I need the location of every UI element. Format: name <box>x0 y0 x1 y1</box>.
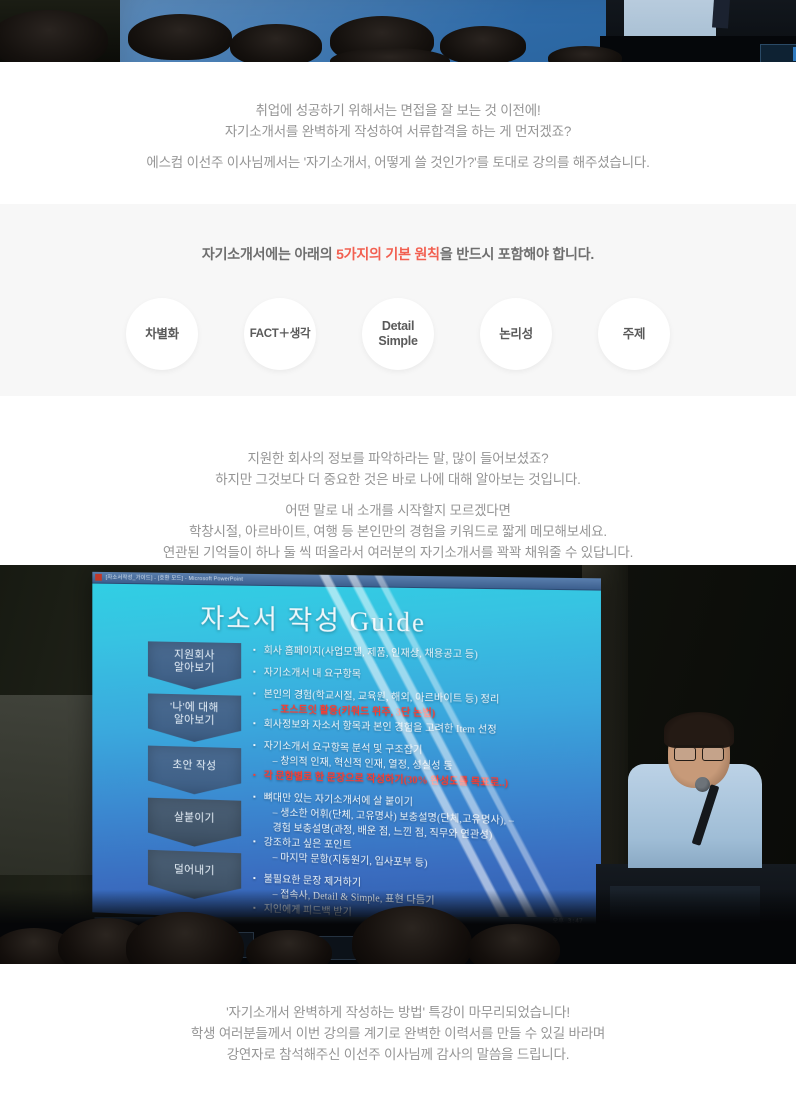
principle-label: FACT＋생각 <box>250 327 311 342</box>
flow-step-1: 지원회사알아보기 <box>148 641 241 690</box>
middle-text-block: 지원한 회사의 정보를 파악하라는 말, 많이 들어보셨죠? 하지만 그것보다 … <box>0 448 796 563</box>
principle-circle-list: 차별화 FACT＋생각 Detail Simple 논리성 주제 <box>0 293 796 375</box>
principle-circle-4[interactable]: 논리성 <box>480 298 552 370</box>
principle-circle-5[interactable]: 주제 <box>598 298 670 370</box>
principle-label-line1: Detail <box>382 319 414 333</box>
principles-section: 자기소개서에는 아래의 5가지의 기본 원칙을 반드시 포함해야 합니다. 차별… <box>0 204 796 396</box>
principle-label: 논리성 <box>499 327 533 342</box>
audience-head <box>440 26 526 62</box>
principle-label-line2: Simple <box>378 334 417 348</box>
intro-text-block: 취업에 성공하기 위해서는 면접을 잘 보는 것 이전에! 자기소개서를 완벽하… <box>0 100 796 173</box>
audience-head <box>230 24 322 62</box>
flow-step-2: '나'에 대해알아보기 <box>148 693 241 743</box>
middle-line: 지원한 회사의 정보를 파악하라는 말, 많이 들어보셨죠? <box>0 448 796 469</box>
intro-line: 에스컴 이선주 이사님께서는 '자기소개서, 어떻게 쓸 것인가?'를 토대로 … <box>0 152 796 173</box>
slide-bullet-list: 회사 홈페이지(사업모델, 제품, 인재상, 채용공고 등) 자기소개서 내 요… <box>253 643 586 930</box>
principle-circle-3[interactable]: Detail Simple <box>362 298 434 370</box>
outro-line: 학생 여러분들께서 이번 강의를 계기로 완벽한 이력서를 만들 수 있길 바라… <box>0 1023 796 1044</box>
bottom-lecture-photo: [자소서작성_가이드] - [호환 모드] - Microsoft PowerP… <box>0 565 796 964</box>
intro-line: 취업에 성공하기 위해서는 면접을 잘 보는 것 이전에! <box>0 100 796 121</box>
flow-step-4: 살붙이기 <box>148 798 241 849</box>
principle-circle-2[interactable]: FACT＋생각 <box>244 298 316 370</box>
side-monitor <box>760 44 796 62</box>
principles-heading-highlight: 5가지의 기본 원칙 <box>336 246 440 262</box>
outro-text-block: '자기소개서 완벽하게 작성하는 방법' 특강이 마무리되었습니다! 학생 여러… <box>0 1002 796 1065</box>
principles-heading-pre: 자기소개서에는 아래의 <box>202 246 336 262</box>
middle-line: 연관된 기억들이 하나 둘 씩 떠올라서 여러분의 자기소개서를 꽉꽉 채워줄 … <box>0 542 796 563</box>
presenter-glasses <box>674 745 724 760</box>
slide-flow-diagram: 지원회사알아보기 '나'에 대해알아보기 초안 작성 살붙이기 덜어내기 <box>148 641 241 905</box>
principles-heading-post: 을 반드시 포함해야 합니다. <box>440 246 594 262</box>
spacer <box>0 142 796 152</box>
flow-step-3: 초안 작성 <box>148 746 241 796</box>
principle-label: 주제 <box>623 327 645 342</box>
presenter-torso <box>624 0 716 40</box>
spacer <box>0 490 796 500</box>
top-lecture-photo: 오후 3:47 2017-05-24 <box>0 0 796 62</box>
intro-line: 자기소개서를 완벽하게 작성하여 서류합격을 하는 게 먼저겠죠? <box>0 121 796 142</box>
presenter-hair <box>664 712 734 748</box>
principles-heading: 자기소개서에는 아래의 5가지의 기본 원칙을 반드시 포함해야 합니다. <box>0 244 796 264</box>
principle-label-multiline: Detail Simple <box>378 319 417 349</box>
outro-line: '자기소개서 완벽하게 작성하는 방법' 특강이 마무리되었습니다! <box>0 1002 796 1023</box>
outro-line: 강연자로 참석해주신 이선주 이사님께 감사의 말씀을 드립니다. <box>0 1044 796 1065</box>
middle-line: 어떤 말로 내 소개를 시작할지 모르겠다면 <box>0 500 796 521</box>
microphone-head <box>695 777 710 792</box>
middle-line: 하지만 그것보다 더 중요한 것은 바로 나에 대해 알아보는 것입니다. <box>0 469 796 490</box>
principle-circle-1[interactable]: 차별화 <box>126 298 198 370</box>
audience-head <box>128 14 232 60</box>
slide-title: 자소서 작성 Guide <box>200 597 426 640</box>
page-root: 오후 3:47 2017-05-24 취업에 성공하기 위해서는 면접을 잘 보… <box>0 0 796 1096</box>
principle-label: 차별화 <box>145 327 179 342</box>
powerpoint-title-text: [자소서작성_가이드] - [호환 모드] - Microsoft PowerP… <box>106 573 243 583</box>
projected-slide: [자소서작성_가이드] - [호환 모드] - Microsoft PowerP… <box>92 572 601 934</box>
middle-line: 학창시절, 아르바이트, 여행 등 본인만의 경험을 키워드로 짧게 메모해보세… <box>0 521 796 542</box>
